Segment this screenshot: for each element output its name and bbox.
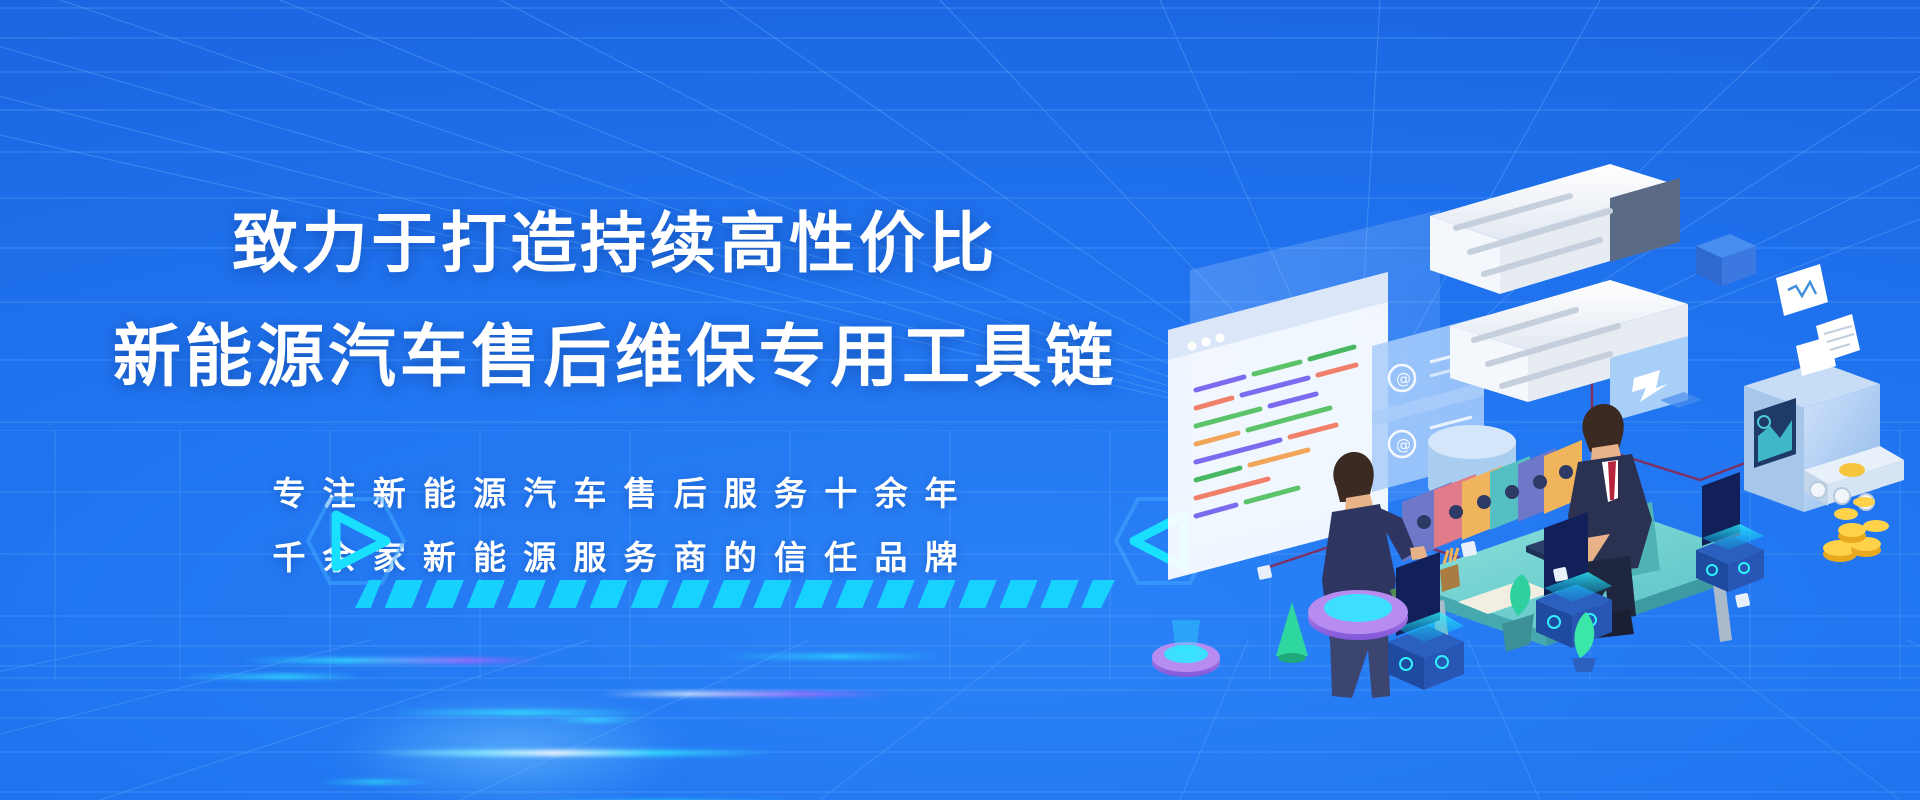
subtitle-line-1: 专注新能源汽车售后服务十余年 (0, 470, 1230, 518)
text-block: 致力于打造持续高性价比 新能源汽车售后维保专用工具链 专注新能源汽车售后服务十余… (0, 0, 1230, 800)
gold-coins (1823, 497, 1889, 562)
headline-line-1: 致力于打造持续高性价比 (0, 205, 1230, 283)
svg-text:@: @ (1396, 370, 1411, 388)
subtitle-line-2: 千余家新能源服务商的信任品牌 (0, 534, 1230, 582)
message-card-bottom (1450, 280, 1688, 422)
coin-machine (1744, 264, 1904, 512)
headline-line-2: 新能源汽车售后维保专用工具链 (0, 318, 1230, 398)
svg-text:@: @ (1396, 436, 1411, 454)
banner-stage: 致力于打造持续高性价比 新能源汽车售后维保专用工具链 专注新能源汽车售后服务十余… (0, 0, 1920, 800)
isometric-office-illustration: @ @ (1140, 150, 1920, 710)
diagonal-stripe-divider (355, 580, 1115, 608)
message-card-top (1430, 164, 1680, 294)
